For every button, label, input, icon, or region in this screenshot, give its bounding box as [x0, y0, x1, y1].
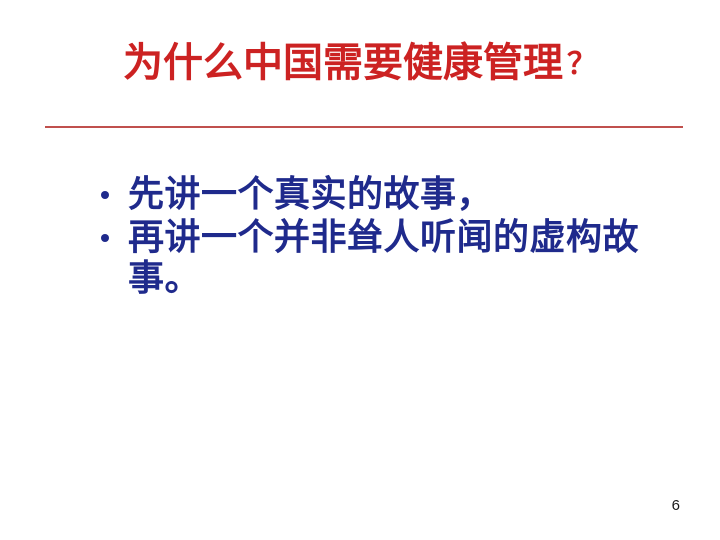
list-item: 先讲一个真实的故事， [93, 174, 663, 215]
bullet-dot-icon [101, 191, 109, 199]
slide-canvas: 为什么中国需要健康管理？ 先讲一个真实的故事， 再讲一个并非耸人听闻的虚构故事。… [0, 0, 720, 540]
page-title: 为什么中国需要健康管理？ [0, 38, 720, 90]
page-title-question-mark: ？ [563, 48, 597, 81]
page-number: 6 [672, 497, 680, 515]
bullet-list: 先讲一个真实的故事， 再讲一个并非耸人听闻的虚构故事。 [93, 174, 663, 301]
list-item-label: 再讲一个并非耸人听闻的虚构故事。 [128, 217, 639, 298]
bullet-dot-icon [101, 234, 109, 242]
title-divider-rule [45, 126, 683, 128]
page-title-text: 为什么中国需要健康管理 [123, 40, 563, 85]
list-item: 再讲一个并非耸人听闻的虚构故事。 [93, 217, 663, 299]
list-item-label: 先讲一个真实的故事， [128, 174, 493, 214]
